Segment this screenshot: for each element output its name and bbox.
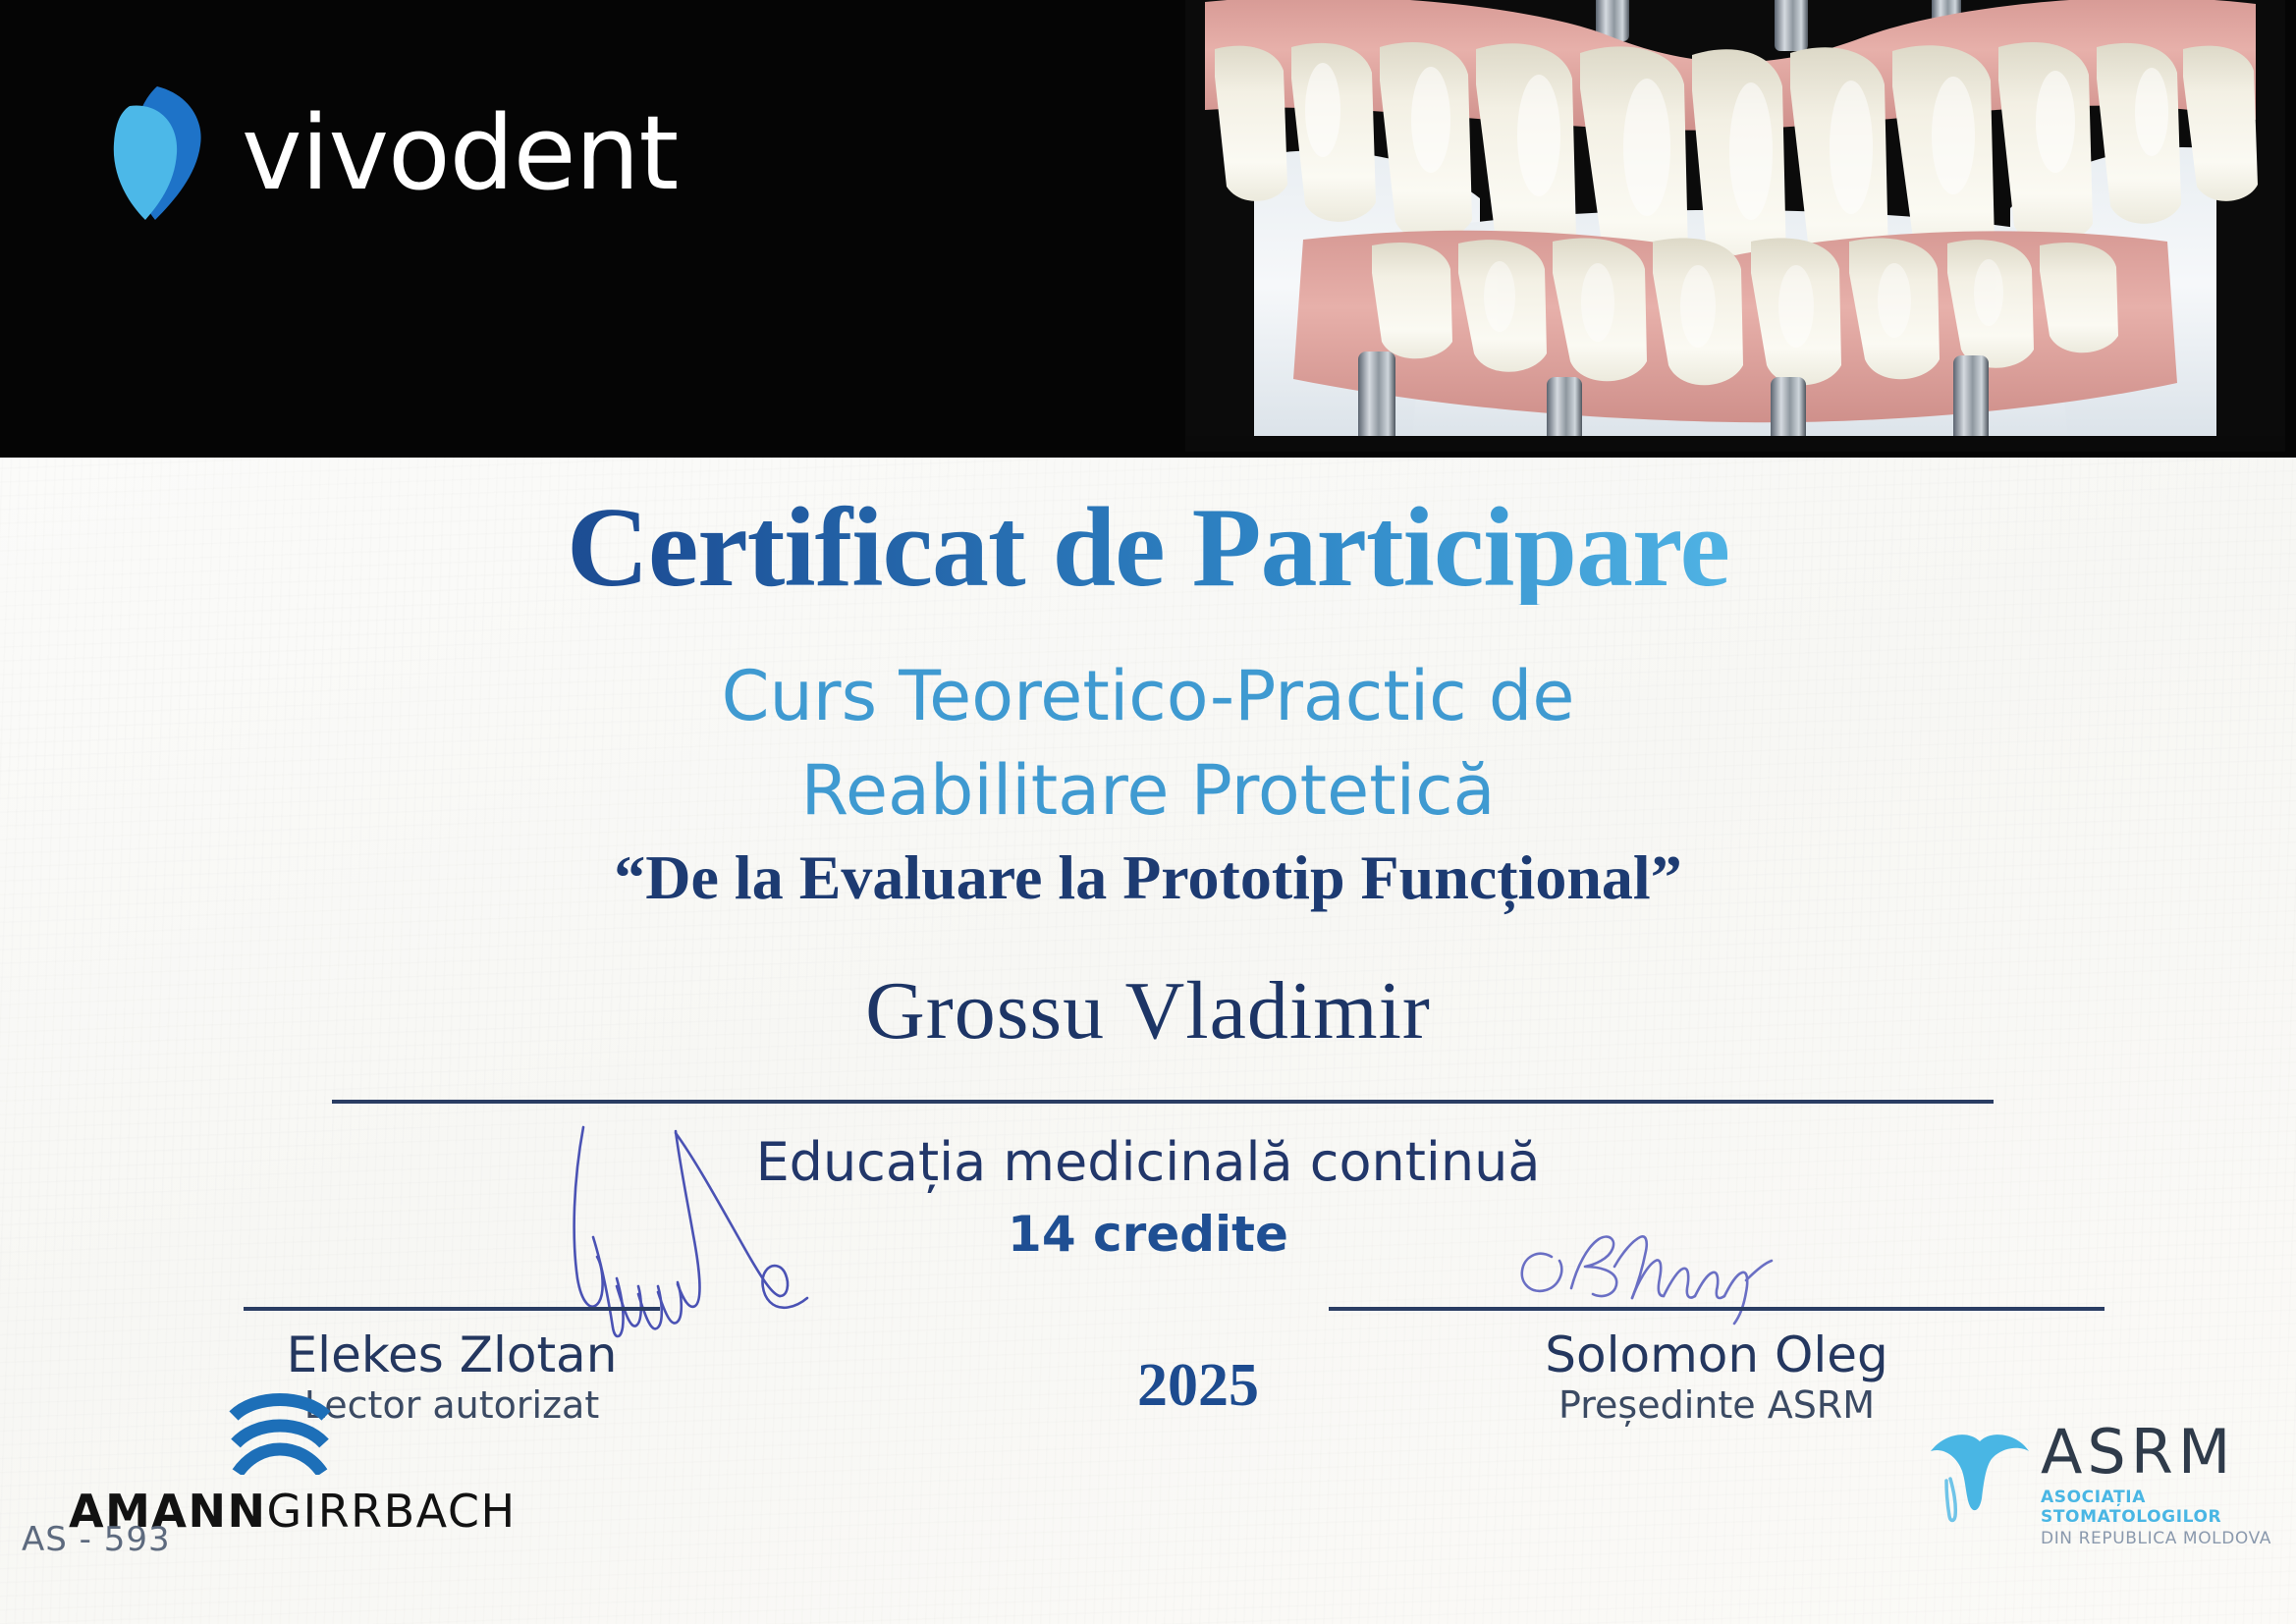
certificate-year: 2025	[1070, 1355, 1326, 1416]
amann-girrbach-arcs-icon	[226, 1392, 334, 1475]
vivodent-ribbon-logo-icon	[106, 84, 208, 222]
course-subtitle-line-2: Reabilitare Protetică	[0, 756, 2296, 825]
asrm-acronym: ASRM	[2041, 1422, 2278, 1483]
recipient-name-rule	[332, 1100, 1994, 1104]
asrm-text-block: ASRM ASOCIAȚIA STOMATOLOGILOR DIN REPUBL…	[2041, 1422, 2278, 1548]
vivodent-wordmark: vivodent	[242, 102, 678, 204]
certificate-title: Certificat de Participare	[0, 491, 2296, 605]
recipient-name: Grossu Vladimir	[0, 970, 2296, 1053]
signatory-name-left: Elekes Zlotan	[244, 1330, 660, 1380]
asrm-tooth-icon	[1925, 1426, 2035, 1528]
course-theme-quote: “De la Evaluare la Prototip Funcțional”	[0, 846, 2296, 909]
vivodent-logo: vivodent	[106, 84, 678, 222]
signatory-name-right: Solomon Oleg	[1329, 1330, 2105, 1380]
amann-girrbach-word-light: GIRRBACH	[266, 1485, 516, 1538]
course-subtitle-line-1: Curs Teoretico-Practic de	[0, 662, 2296, 731]
asrm-logo: ASRM ASOCIAȚIA STOMATOLOGILOR DIN REPUBL…	[1925, 1422, 2278, 1549]
asrm-subtitle-line-2: DIN REPUBLICA MOLDOVA	[2041, 1529, 2278, 1548]
certificate-document: vivodent	[0, 0, 2296, 1624]
cme-label: Educația medicinală continuă	[0, 1131, 2296, 1193]
asrm-subtitle-line-1: ASOCIAȚIA STOMATOLOGILOR	[2041, 1488, 2278, 1527]
certificate-header-band: vivodent	[0, 0, 2296, 458]
certificate-reference-number: AS - 593	[22, 1520, 171, 1559]
dental-photo-artwork	[1185, 0, 2285, 452]
dental-implant-photo	[1185, 0, 2285, 452]
amann-girrbach-logo: AMANNGIRRBACH	[69, 1392, 491, 1534]
signature-rule-left	[244, 1307, 660, 1311]
signature-rule-right	[1329, 1307, 2105, 1311]
credits-value: 14 credite	[0, 1206, 2296, 1263]
signatory-role-right: Președinte ASRM	[1329, 1386, 2105, 1424]
